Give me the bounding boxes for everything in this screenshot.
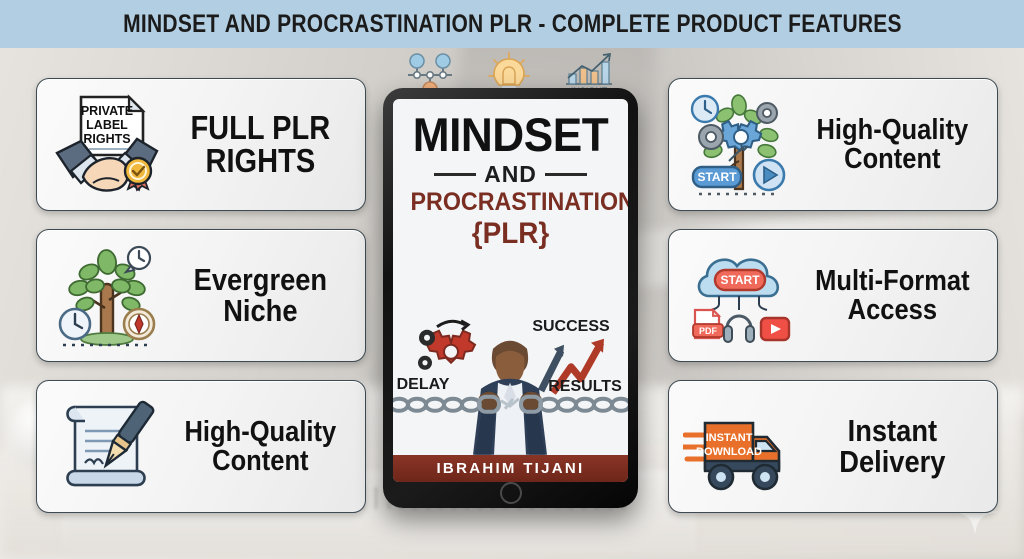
start-label: START: [697, 170, 737, 184]
feature-label-line2: Delivery: [812, 447, 972, 477]
doc-line-3: RIGHTS: [83, 132, 130, 146]
doc-line-1: PRIVATE: [81, 104, 133, 118]
cover-connector: AND: [484, 161, 537, 188]
feature-card-high-quality-content-left[interactable]: High-Quality Content: [36, 380, 366, 513]
start-label: START: [720, 273, 760, 287]
feature-label-line1: FULL PLR: [180, 112, 340, 144]
rule-left: [434, 173, 476, 176]
right-feature-column: START High-Quality Content START: [668, 78, 998, 513]
truck-line-2: DOWNLOAD: [696, 446, 762, 458]
cover-connector-row: AND: [403, 161, 618, 188]
pdf-label: PDF: [699, 326, 718, 336]
feature-label-line1: Evergreen: [180, 265, 340, 295]
feature-label-line1: Multi-Format: [812, 267, 972, 295]
infographic-canvas: MINDSET AND PROCRASTINATION PLR - COMPLE…: [0, 0, 1024, 559]
cover-author: IBRAHIM TIJANI: [436, 460, 584, 477]
tablet-screen: MINDSET AND PROCRASTINATION {PLR}: [393, 99, 628, 482]
tablet-home-button[interactable]: [500, 482, 522, 504]
feature-label-line1: High-Quality: [180, 418, 340, 446]
feature-label-line2: RIGHTS: [180, 145, 340, 177]
page-title: MINDSET AND PROCRASTINATION PLR - COMPLE…: [123, 10, 902, 39]
doc-line-2: LABEL: [86, 118, 128, 132]
feature-label-line2: Niche: [180, 296, 340, 326]
cover-label-success: SUCCESS: [532, 318, 610, 335]
rule-right: [545, 173, 587, 176]
delivery-truck-icon: INSTANT DOWNLOAD: [677, 391, 801, 503]
feature-card-label: High-Quality Content: [812, 116, 977, 173]
feature-card-full-plr-rights[interactable]: PRIVATE LABEL RIGHTS: [36, 78, 366, 211]
book-cover-top: MINDSET AND PROCRASTINATION {PLR}: [393, 99, 628, 251]
evergreen-tree-clock-compass-icon: [45, 240, 169, 352]
left-feature-column: PRIVATE LABEL RIGHTS: [36, 78, 366, 513]
cover-plr: {PLR}: [411, 217, 611, 251]
cover-subtitle: PROCRASTINATION: [411, 190, 611, 215]
tablet-device[interactable]: MINDSET AND PROCRASTINATION {PLR}: [383, 88, 638, 508]
cover-label-delay: DELAY: [397, 376, 450, 393]
feature-card-label: High-Quality Content: [180, 418, 345, 475]
feature-card-label: Instant Delivery: [812, 416, 977, 477]
tree-gears-growth-icon: START: [677, 89, 801, 201]
private-label-rights-handshake-icon: PRIVATE LABEL RIGHTS: [45, 89, 169, 201]
cover-title: MINDSET: [409, 113, 611, 156]
feature-card-evergreen-niche[interactable]: Evergreen Niche: [36, 229, 366, 362]
feature-card-instant-delivery[interactable]: INSTANT DOWNLOAD Instant Delivery: [668, 380, 998, 513]
feature-card-multi-format-access[interactable]: START PDF: [668, 229, 998, 362]
header-band: MINDSET AND PROCRASTINATION PLR - COMPLE…: [0, 0, 1024, 48]
feature-label-line1: High-Quality: [812, 116, 972, 144]
cover-artwork: DELAY SUCCESS RESULTS: [393, 253, 628, 455]
feature-card-label: Multi-Format Access: [812, 267, 977, 324]
feature-label-line2: Access: [812, 296, 972, 324]
feature-label-line2: Content: [812, 145, 972, 173]
feature-card-high-quality-content-right[interactable]: START High-Quality Content: [668, 78, 998, 211]
feature-card-label: FULL PLR RIGHTS: [180, 112, 345, 177]
feature-label-line1: Instant: [812, 416, 972, 446]
scroll-pen-icon: [45, 391, 169, 503]
cloud-multiformat-icon: START PDF: [677, 240, 801, 352]
truck-line-1: INSTANT: [706, 432, 753, 444]
feature-card-label: Evergreen Niche: [180, 265, 345, 326]
feature-label-line2: Content: [180, 447, 340, 475]
cover-author-band: IBRAHIM TIJANI: [393, 455, 628, 482]
cover-label-results: RESULTS: [548, 378, 622, 395]
